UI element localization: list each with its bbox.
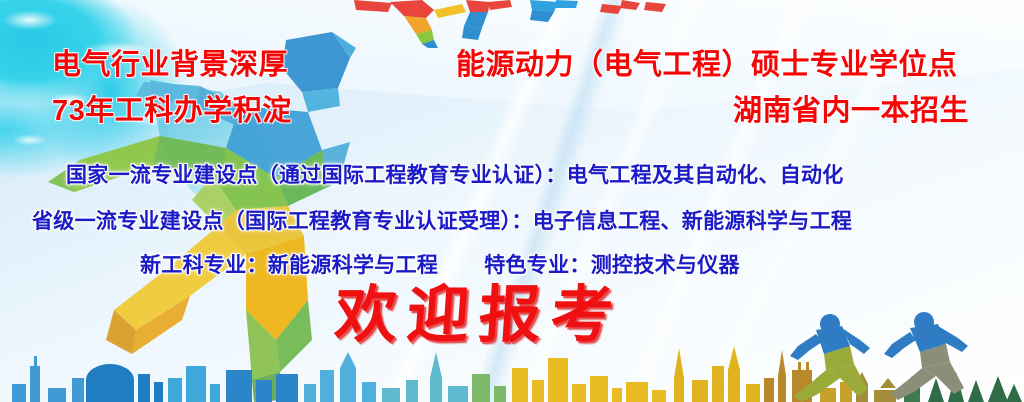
headline-electrical-industry-background: 电气行业背景深厚 [52,51,288,80]
runner-silhouettes-graphic [764,312,1014,402]
headline-hunan-first-tier-admission: 湖南省内一本招生 [733,97,969,126]
promotional-banner: 电气行业背景深厚 73年工科办学积淀 能源动力（电气工程）硕士专业学位点 湖南省… [0,0,1024,402]
subline-provincial-first-class-major: 省级一流专业建设点（国际工程教育专业认证受理）：电子信息工程、新能源科学与工程 [32,211,852,232]
subline-national-first-class-major: 国家一流专业建设点（通过国际工程教育专业认证）：电气工程及其自动化、自动化 [66,165,844,186]
headline-73-years-engineering: 73年工科办学积淀 [52,97,292,126]
calligraphy-welcome-to-apply: 欢迎报考 [333,284,625,346]
headline-masters-degree-program: 能源动力（电气工程）硕士专业学位点 [456,51,958,80]
subline-featured-major: 特色专业：测控技术与仪器 [484,254,740,277]
subline-new-engineering-major: 新工科专业：新能源科学与工程 [140,254,438,277]
subline-new-engineering-and-featured-majors: 新工科专业：新能源科学与工程特色专业：测控技术与仪器 [140,255,740,276]
